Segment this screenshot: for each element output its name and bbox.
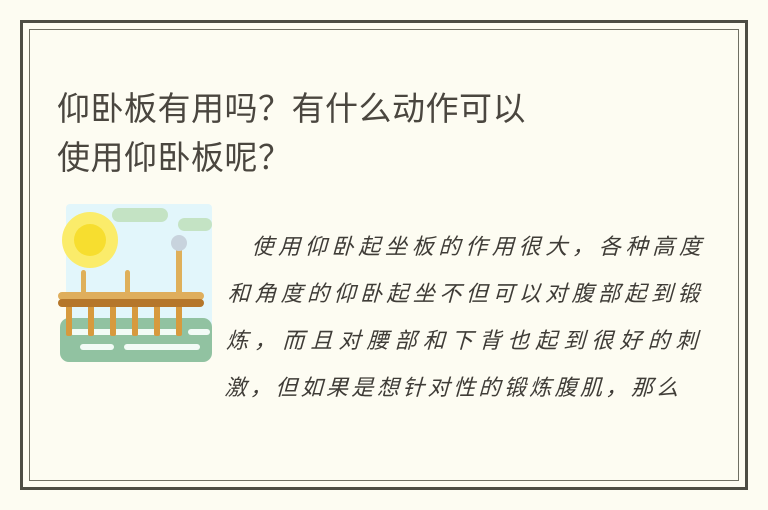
article-page: 仰卧板有用吗？有什么动作可以 使用仰卧板呢？ (0, 0, 768, 510)
water-foam-1 (70, 329, 180, 335)
deck-plank-shadow (58, 299, 204, 307)
page-title: 仰卧板有用吗？有什么动作可以 使用仰卧板呢？ (57, 84, 697, 182)
cloud-right (178, 218, 212, 231)
sit-up-bench-pier-illustration (52, 196, 212, 364)
article-body-text: 使用仰卧起坐板的作用很大，各种高度和角度的仰卧起坐不但可以对腹部起到锻炼，而且对… (224, 224, 706, 412)
illustration-svg (52, 196, 212, 364)
water-foam-4 (124, 344, 200, 350)
article-content: 使用仰卧起坐板的作用很大，各种高度和角度的仰卧起坐不但可以对腹部起到锻炼，而且对… (52, 196, 702, 466)
sun-core (74, 224, 106, 256)
water-foam-3 (80, 344, 114, 350)
lamp-head (171, 235, 187, 251)
deck-plank-top (58, 292, 204, 300)
water-foam-2 (188, 329, 210, 335)
cloud-left (112, 208, 168, 222)
